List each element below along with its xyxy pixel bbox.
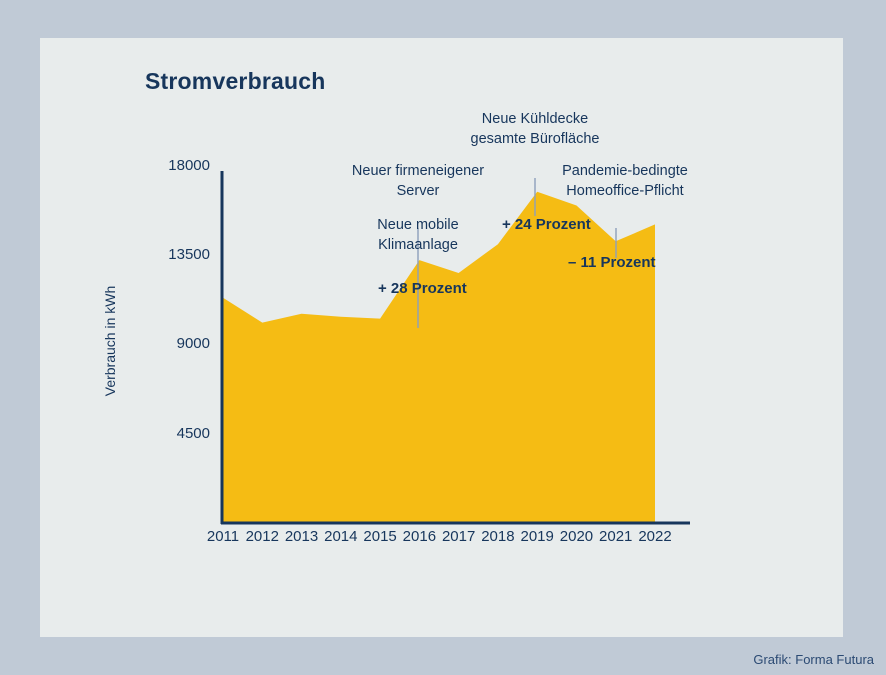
y-tick-label: 4500	[140, 425, 210, 442]
x-tick-label: 2020	[556, 528, 596, 545]
y-tick-label: 9000	[140, 335, 210, 352]
credit-line: Grafik: Forma Futura	[753, 652, 874, 667]
y-tick-label: 18000	[140, 157, 210, 174]
x-tick-label: 2014	[321, 528, 361, 545]
x-tick-label: 2011	[203, 528, 243, 545]
x-tick-label: 2013	[282, 528, 322, 545]
annotation-server: Neuer firmeneigener Server	[308, 162, 528, 201]
x-tick-label: 2017	[439, 528, 479, 545]
y-tick-label: 13500	[140, 246, 210, 263]
y-axis-label: Verbrauch in kWh	[102, 261, 118, 421]
delta-label-2016: + 28 Prozent	[378, 280, 467, 297]
delta-label-2019: + 24 Prozent	[502, 216, 591, 233]
area-chart: Verbrauch in kWh 450090001350018000 2011…	[40, 38, 843, 637]
annotation-kuehldecke: Neue Kühldecke gesamte Bürofläche	[435, 110, 635, 149]
x-tick-label: 2018	[478, 528, 518, 545]
x-tick-label: 2015	[360, 528, 400, 545]
x-tick-label: 2022	[635, 528, 675, 545]
x-tick-label: 2021	[596, 528, 636, 545]
annotation-klima: Neue mobile Klimaanlage	[328, 216, 508, 255]
annotation-pandemie: Pandemie-bedingte Homeoffice-Pflicht	[530, 162, 720, 201]
x-tick-label: 2019	[517, 528, 557, 545]
delta-label-2021: – 11 Prozent	[568, 254, 656, 271]
chart-panel: Stromverbrauch Verbrauch in kWh 45009000…	[40, 38, 843, 637]
x-tick-label: 2012	[242, 528, 282, 545]
x-tick-label: 2016	[399, 528, 439, 545]
